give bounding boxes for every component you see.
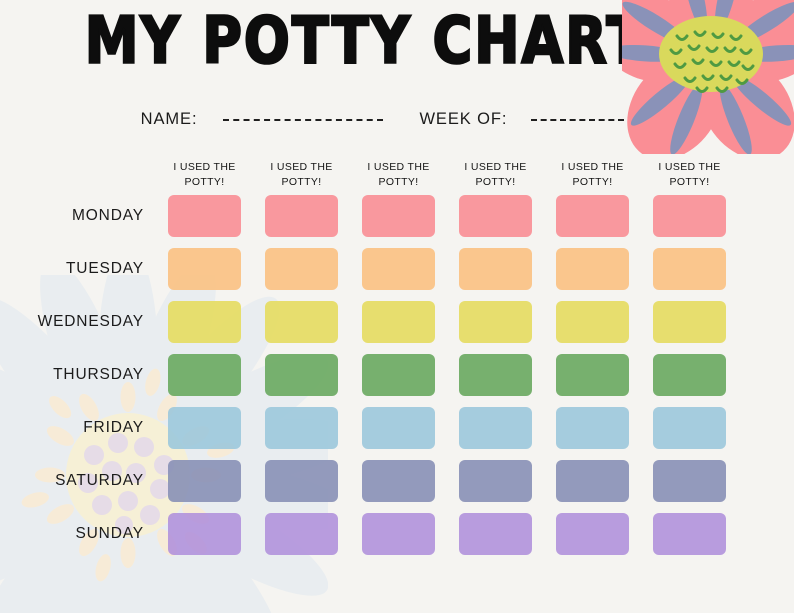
sticker-cell[interactable] bbox=[168, 513, 241, 555]
week-of-input[interactable] bbox=[531, 108, 653, 121]
potty-chart-table: I USED THE POTTY!I USED THE POTTY!I USED… bbox=[0, 160, 794, 566]
sticker-cell[interactable] bbox=[265, 513, 338, 555]
week-of-field-group: WEEK OF: bbox=[419, 110, 653, 129]
day-label-monday: MONDAY bbox=[72, 195, 144, 237]
sticker-cell[interactable] bbox=[168, 354, 241, 396]
name-label: NAME: bbox=[141, 110, 198, 129]
table-row: TUESDAY bbox=[168, 248, 730, 290]
sticker-cell[interactable] bbox=[265, 354, 338, 396]
sticker-cell[interactable] bbox=[362, 195, 435, 237]
sticker-cell[interactable] bbox=[362, 460, 435, 502]
sticker-cell[interactable] bbox=[653, 513, 726, 555]
sticker-cell[interactable] bbox=[265, 301, 338, 343]
table-header-row: I USED THE POTTY!I USED THE POTTY!I USED… bbox=[168, 160, 730, 190]
week-of-label: WEEK OF: bbox=[419, 110, 507, 129]
sticker-cell[interactable] bbox=[168, 407, 241, 449]
sticker-cell[interactable] bbox=[362, 513, 435, 555]
column-header: I USED THE POTTY! bbox=[459, 160, 532, 190]
sticker-cell[interactable] bbox=[556, 460, 629, 502]
form-fields: NAME: WEEK OF: bbox=[0, 110, 794, 129]
sticker-cell[interactable] bbox=[653, 248, 726, 290]
sticker-cell[interactable] bbox=[265, 195, 338, 237]
sticker-cell[interactable] bbox=[362, 354, 435, 396]
sticker-cell[interactable] bbox=[168, 248, 241, 290]
sticker-cell[interactable] bbox=[265, 248, 338, 290]
column-header: I USED THE POTTY! bbox=[556, 160, 629, 190]
sticker-cell[interactable] bbox=[265, 460, 338, 502]
table-body: MONDAYTUESDAYWEDNESDAYTHURSDAYFRIDAYSATU… bbox=[168, 195, 730, 555]
day-label-thursday: THURSDAY bbox=[53, 354, 144, 396]
table-row: SUNDAY bbox=[168, 513, 730, 555]
sticker-cell[interactable] bbox=[459, 354, 532, 396]
sticker-cell[interactable] bbox=[459, 513, 532, 555]
sticker-cell[interactable] bbox=[362, 248, 435, 290]
sticker-cell[interactable] bbox=[459, 407, 532, 449]
name-field-group: NAME: bbox=[141, 110, 384, 129]
sticker-cell[interactable] bbox=[459, 301, 532, 343]
table-row: FRIDAY bbox=[168, 407, 730, 449]
day-label-friday: FRIDAY bbox=[83, 407, 144, 449]
table-row: SATURDAY bbox=[168, 460, 730, 502]
table-row: WEDNESDAY bbox=[168, 301, 730, 343]
day-label-sunday: SUNDAY bbox=[75, 513, 144, 555]
sticker-cell[interactable] bbox=[653, 354, 726, 396]
column-header: I USED THE POTTY! bbox=[653, 160, 726, 190]
sticker-cell[interactable] bbox=[362, 301, 435, 343]
sticker-cell[interactable] bbox=[653, 460, 726, 502]
name-input[interactable] bbox=[223, 108, 383, 121]
page-title: MY POTTY CHART bbox=[85, 8, 646, 75]
sticker-cell[interactable] bbox=[556, 513, 629, 555]
sticker-cell[interactable] bbox=[556, 195, 629, 237]
sticker-cell[interactable] bbox=[168, 301, 241, 343]
sticker-cell[interactable] bbox=[168, 195, 241, 237]
sticker-cell[interactable] bbox=[459, 195, 532, 237]
sticker-cell[interactable] bbox=[653, 195, 726, 237]
sticker-cell[interactable] bbox=[362, 407, 435, 449]
title-area: MY POTTY CHART bbox=[0, 8, 794, 65]
sticker-cell[interactable] bbox=[459, 248, 532, 290]
sticker-cell[interactable] bbox=[556, 301, 629, 343]
sticker-cell[interactable] bbox=[653, 301, 726, 343]
day-label-tuesday: TUESDAY bbox=[66, 248, 144, 290]
day-label-wednesday: WEDNESDAY bbox=[38, 301, 144, 343]
column-header: I USED THE POTTY! bbox=[168, 160, 241, 190]
sticker-cell[interactable] bbox=[556, 354, 629, 396]
column-header: I USED THE POTTY! bbox=[362, 160, 435, 190]
sticker-cell[interactable] bbox=[556, 248, 629, 290]
sticker-cell[interactable] bbox=[168, 460, 241, 502]
sticker-cell[interactable] bbox=[556, 407, 629, 449]
table-row: THURSDAY bbox=[168, 354, 730, 396]
column-header: I USED THE POTTY! bbox=[265, 160, 338, 190]
sticker-cell[interactable] bbox=[653, 407, 726, 449]
sticker-cell[interactable] bbox=[265, 407, 338, 449]
day-label-saturday: SATURDAY bbox=[55, 460, 144, 502]
table-row: MONDAY bbox=[168, 195, 730, 237]
potty-chart-page: MY POTTY CHART NAME: WEEK OF: I USED THE… bbox=[0, 0, 794, 613]
sticker-cell[interactable] bbox=[459, 460, 532, 502]
